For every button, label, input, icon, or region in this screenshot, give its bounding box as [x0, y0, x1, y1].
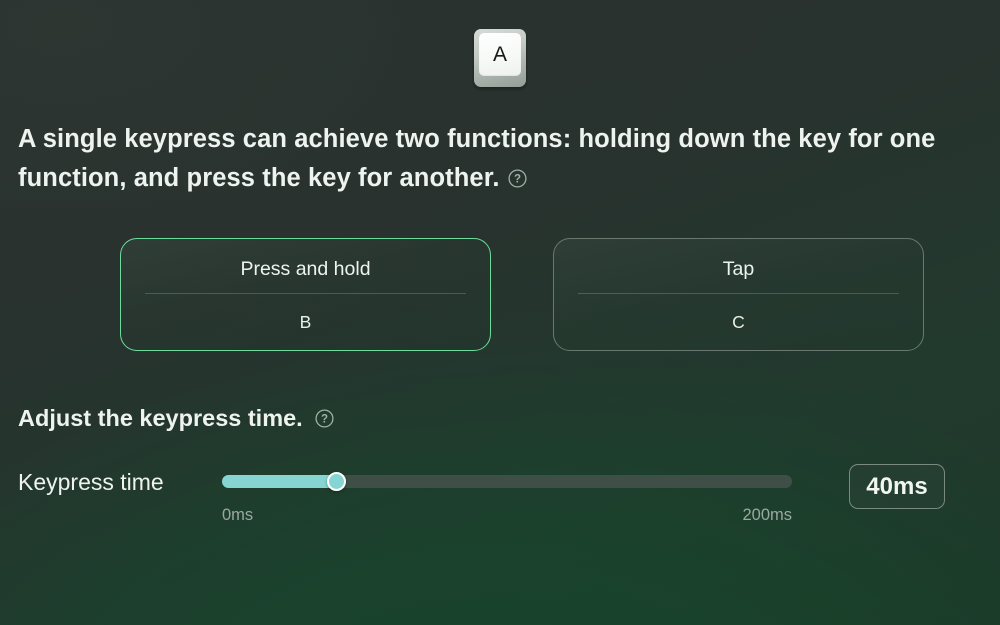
slider-control[interactable]: 0ms 200ms — [222, 462, 792, 532]
description-text: A single keypress can achieve two functi… — [18, 120, 986, 198]
option-card-press-and-hold[interactable]: Press and hold B — [120, 238, 491, 351]
slider-thumb[interactable] — [327, 472, 346, 491]
option-card-divider — [578, 293, 899, 294]
svg-text:?: ? — [513, 174, 520, 186]
help-circle-icon[interactable]: ? — [315, 409, 334, 428]
slider-max-label: 200ms — [742, 505, 792, 525]
keycap-body: A — [474, 29, 526, 87]
option-card-value[interactable]: C — [554, 311, 923, 333]
slider-track[interactable] — [222, 475, 792, 488]
adjust-section-label: Adjust the keypress time. — [18, 403, 303, 433]
keycap-letter: A — [493, 44, 507, 65]
option-card-divider — [145, 293, 466, 294]
keycap-illustration: A — [474, 29, 526, 87]
keycap-face: A — [479, 33, 521, 76]
svg-text:?: ? — [321, 413, 328, 425]
keypress-time-slider-row: Keypress time 0ms 200ms 40ms — [18, 462, 982, 532]
slider-label: Keypress time — [18, 467, 164, 497]
keypress-time-value-box[interactable]: 40ms — [849, 464, 945, 509]
option-card-title: Press and hold — [121, 257, 490, 281]
keypress-settings-screen: A A single keypress can achieve two func… — [0, 0, 1000, 625]
function-option-cards: Press and hold B Tap C — [120, 238, 925, 353]
option-card-title: Tap — [554, 257, 923, 281]
adjust-section-heading: Adjust the keypress time.? — [18, 403, 334, 433]
slider-min-label: 0ms — [222, 505, 253, 525]
slider-fill — [222, 475, 336, 488]
help-circle-icon[interactable]: ? — [508, 169, 527, 188]
description-label: A single keypress can achieve two functi… — [18, 125, 935, 192]
option-card-value[interactable]: B — [121, 311, 490, 333]
keypress-time-value: 40ms — [866, 473, 927, 501]
option-card-tap[interactable]: Tap C — [553, 238, 924, 351]
